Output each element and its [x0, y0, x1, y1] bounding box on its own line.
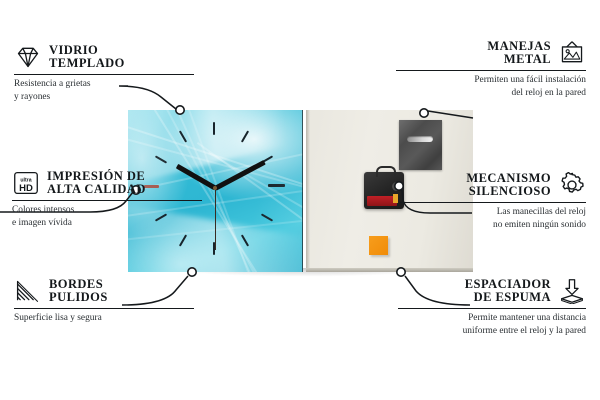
desc-line2: no emiten ningún sonido: [400, 219, 586, 232]
polished-edge-icon: [14, 278, 42, 304]
feature-bordes-pulidos: BORDES PULIDOS Superficie lisa y segura: [14, 278, 194, 325]
hanger-slot: [407, 136, 433, 142]
feature-title-line2: METAL: [487, 53, 551, 66]
gear-icon: [558, 172, 586, 198]
desc-line2: e imagen vívida: [12, 217, 202, 230]
panel-bottom-edge: [306, 268, 473, 272]
feature-title-line2: ALTA CALIDAD: [47, 183, 146, 196]
diamond-icon: [14, 44, 42, 70]
desc-line2: del reloj en la pared: [396, 87, 586, 100]
ultra-hd-icon: ultra HD: [12, 170, 40, 196]
desc-line1: Resistencia a grietas: [14, 78, 194, 91]
battery-terminal: [393, 194, 398, 203]
feature-description: Las manecillas del reloj no emiten ningú…: [400, 206, 586, 232]
foam-spacer-icon: [558, 278, 586, 304]
desc-line1: Las manecillas del reloj: [400, 206, 586, 219]
feature-rule: [12, 200, 202, 201]
feature-mecanismo-silencioso: MECANISMO SILENCIOSO Las manecillas del …: [400, 172, 586, 232]
face-edge-shadow: [302, 110, 303, 272]
feature-manejas-metal: MANEJAS METAL Permiten una fácil instala…: [396, 40, 586, 100]
feature-rule: [14, 74, 194, 75]
feature-title-line2: DE ESPUMA: [465, 291, 551, 304]
wall-hanger-icon: [558, 40, 586, 66]
feature-rule: [400, 202, 586, 203]
feature-title-line2: SILENCIOSO: [466, 185, 551, 198]
feature-title-line2: PULIDOS: [49, 291, 108, 304]
feature-title-line2: TEMPLADO: [49, 57, 125, 70]
clock-mechanism: [364, 172, 404, 209]
wall-hanger-plate: [399, 120, 442, 170]
feature-description: Colores intensos e imagen vívida: [12, 204, 202, 230]
icon-label-main: HD: [19, 183, 33, 194]
feature-description: Resistencia a grietas y rayones: [14, 78, 194, 104]
feature-rule: [396, 70, 586, 71]
feature-description: Superficie lisa y segura: [14, 312, 194, 325]
infographic-canvas: VIDRIO TEMPLADO Resistencia a grietas y …: [0, 0, 600, 400]
foam-spacer-pad: [369, 236, 388, 255]
feature-rule: [14, 308, 194, 309]
battery: [367, 196, 397, 206]
panel-left-edge: [306, 110, 310, 272]
desc-line1: Permiten una fácil instalación: [396, 74, 586, 87]
feature-espaciador-espuma: ESPACIADOR DE ESPUMA Permite mantener un…: [398, 278, 586, 338]
desc-line2: uniforme entre el reloj y la pared: [398, 325, 586, 338]
desc-line2: y rayones: [14, 91, 194, 104]
feature-description: Permiten una fácil instalación del reloj…: [396, 74, 586, 100]
mechanism-hook: [376, 166, 396, 177]
feature-vidrio-templado: VIDRIO TEMPLADO Resistencia a grietas y …: [14, 44, 194, 104]
feature-impresion-alta-calidad: ultra HD IMPRESIÓN DE ALTA CALIDAD Color…: [12, 170, 202, 230]
desc-line1: Colores intensos: [12, 204, 202, 217]
feature-description: Permite mantener una distancia uniforme …: [398, 312, 586, 338]
desc-line1: Superficie lisa y segura: [14, 312, 194, 325]
desc-line1: Permite mantener una distancia: [398, 312, 586, 325]
feature-rule: [398, 308, 586, 309]
